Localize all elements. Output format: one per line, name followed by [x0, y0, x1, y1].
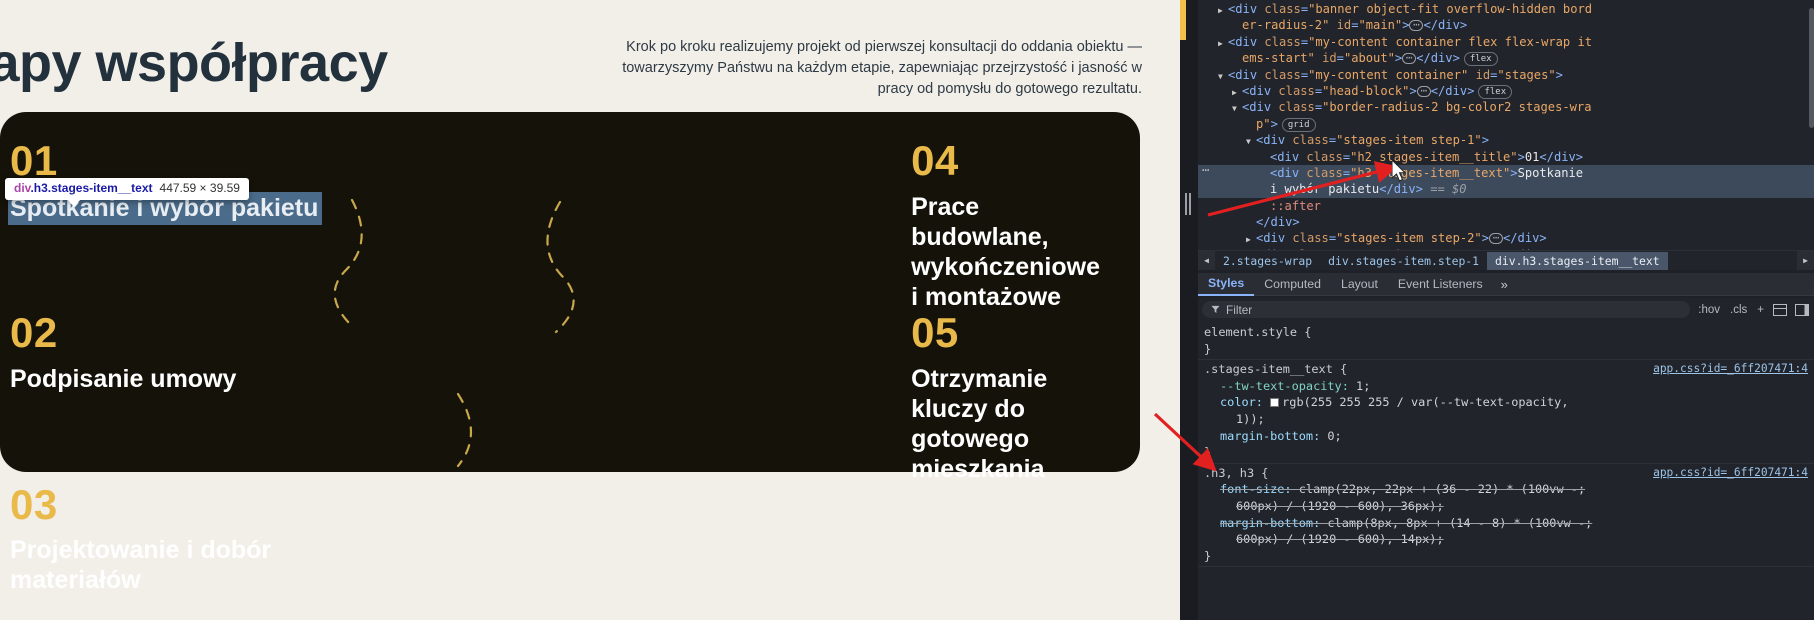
stages-item-text: Otrzymanie kluczy do gotowego mieszkania	[911, 364, 1100, 484]
dom-token-text: i wybór pakietu	[1270, 182, 1379, 196]
space	[1315, 51, 1322, 65]
element-classes-button[interactable]: .cls	[1728, 304, 1749, 316]
dom-tree-line[interactable]: ems-start" id="about">⋯</div>flex	[1198, 50, 1814, 66]
dom-tree-line[interactable]: <div class="banner object-fit overflow-h…	[1198, 1, 1814, 17]
display-badge[interactable]: flex	[1478, 85, 1512, 99]
collapsed-children-icon[interactable]: ⋯	[1489, 233, 1503, 244]
tab-styles[interactable]: Styles	[1198, 272, 1254, 296]
dom-token-punct: >	[1409, 84, 1416, 98]
dom-token-punct: </div>	[1256, 215, 1300, 229]
tooltip-class-names: .h3.stages-item__text	[30, 181, 152, 195]
stages-item-01[interactable]: 01 Spotkanie i wybór pakietu	[10, 140, 355, 312]
dom-token-val: "stages-item step-1"	[1336, 133, 1482, 147]
dom-token-attr: class	[1278, 100, 1314, 114]
breadcrumb-item[interactable]: 2.stages-wrap	[1215, 252, 1320, 270]
dom-token-punct: </div>	[1431, 84, 1475, 98]
breadcrumb[interactable]: ◀ 2.stages-wrapdiv.stages-item.step-1div…	[1198, 250, 1814, 270]
dom-token-val: "main"	[1359, 18, 1403, 32]
dom-tree-scrollbar[interactable]	[1809, 0, 1814, 250]
stages-item-04[interactable]: 04 Prace budowlane, wykończeniowe i mont…	[355, 140, 1100, 312]
css-source-link[interactable]: app.css?id=_6ff207471:4	[1653, 465, 1808, 482]
dom-token-punct: >	[1402, 18, 1409, 32]
dom-token-val: "stages"	[1497, 68, 1555, 82]
dom-token-attr: class	[1264, 2, 1300, 16]
page-title: tapy współpracy	[0, 32, 388, 94]
css-source-link[interactable]: app.css?id=_6ff207471:4	[1653, 361, 1808, 378]
mouse-cursor	[1392, 160, 1410, 186]
dom-token-punct: =	[1343, 150, 1350, 164]
dom-token-val: "h3 stages-item__text"	[1350, 166, 1510, 180]
dom-token-pseudo: ::after	[1270, 199, 1321, 213]
css-rule[interactable]: element.style {}	[1198, 323, 1814, 360]
dom-tree[interactable]: <div class="banner object-fit overflow-h…	[1198, 0, 1814, 250]
dom-token-punct: </div>	[1423, 18, 1467, 32]
dom-tree-line[interactable]: er-radius-2" id="main">⋯</div>	[1198, 17, 1814, 33]
dom-token-punct: >	[1556, 68, 1563, 82]
element-inspect-tooltip: div.h3.stages-item__text447.59 × 39.59	[5, 178, 249, 200]
dom-tree-line[interactable]: p">grid	[1198, 116, 1814, 132]
dom-token-tag: div	[1235, 2, 1257, 16]
dom-token-tag: div	[1249, 100, 1271, 114]
dom-token-punct: </div>	[1416, 51, 1460, 65]
stages-wrap: 01 Spotkanie i wybór pakietu 04 Prace bu…	[0, 112, 1140, 472]
stages-item-title: 02	[10, 312, 355, 355]
dom-token-punct: =	[1301, 68, 1308, 82]
computed-styles-sidebar-icon[interactable]	[1772, 303, 1788, 317]
dom-token-val: ems-start"	[1242, 51, 1315, 65]
dom-token-punct: >	[1482, 231, 1489, 245]
dom-token-text: Spotkanie	[1518, 166, 1584, 180]
stages-item-text: Prace budowlane, wykończeniowe i montażo…	[911, 192, 1100, 312]
breadcrumb-scroll-right-icon[interactable]: ▶	[1797, 251, 1814, 270]
webpage-viewport: tapy współpracy Krok po kroku realizujem…	[0, 0, 1180, 620]
page-header: tapy współpracy Krok po kroku realizujem…	[0, 0, 1180, 112]
css-declaration[interactable]: --tw-text-opacity: 1;	[1198, 378, 1814, 395]
dom-token-attr: id	[1337, 18, 1352, 32]
dom-token-val: "my-content container"	[1308, 68, 1468, 82]
collapsed-children-icon[interactable]: ⋯	[1417, 86, 1431, 97]
css-declaration[interactable]: 600px) / (1920 - 600), 36px);	[1198, 498, 1814, 515]
css-declaration[interactable]: font-size: clamp(22px, 22px + (36 - 22) …	[1198, 481, 1814, 498]
breadcrumb-scroll-left-icon[interactable]: ◀	[1198, 251, 1215, 270]
css-rule-close: }	[1198, 444, 1814, 461]
css-rule[interactable]: app.css?id=_6ff207471:4.stages-item__tex…	[1198, 360, 1814, 464]
dom-token-punct: =	[1351, 18, 1358, 32]
css-rule-close: }	[1198, 341, 1814, 358]
dom-token-punct: =	[1315, 100, 1322, 114]
dom-token-tag: div	[1263, 231, 1285, 245]
dom-line-more-icon[interactable]: ⋯	[1202, 165, 1209, 175]
css-declaration[interactable]: 1));	[1198, 411, 1814, 428]
breadcrumb-item[interactable]: div.h3.stages-item__text	[1487, 252, 1668, 270]
tab-event-listeners[interactable]: Event Listeners	[1388, 273, 1493, 295]
dom-token-attr: class	[1306, 166, 1342, 180]
dom-token-punct: >	[1510, 166, 1517, 180]
dom-tree-line[interactable]: <div class="stages-item step-2">⋯</div>	[1198, 230, 1814, 246]
color-swatch[interactable]	[1270, 398, 1279, 407]
css-rule-close: }	[1198, 548, 1814, 565]
stages-item-title: 04	[911, 140, 1100, 183]
space	[1329, 18, 1336, 32]
stages-item-text: Projektowanie i dobór materiałów	[10, 535, 355, 595]
dom-token-punct: >	[1395, 51, 1402, 65]
stages-item-text: Podpisanie umowy	[10, 364, 355, 394]
css-declaration[interactable]: 600px) / (1920 - 600), 14px);	[1198, 531, 1814, 548]
dom-token-attr: id	[1322, 51, 1337, 65]
page-lead-paragraph: Krok po kroku realizujemy projekt od pie…	[622, 37, 1142, 100]
dom-token-val: "stages-item step-2"	[1336, 231, 1482, 245]
tooltip-dimensions: 447.59 × 39.59	[160, 181, 240, 195]
dom-token-punct: =	[1301, 35, 1308, 49]
dom-tree-line[interactable]: <div class="border-radius-2 bg-color2 st…	[1198, 99, 1814, 115]
stages-item-title: 03	[10, 484, 355, 527]
devtools-left-gutter	[1180, 0, 1198, 620]
dom-token-attr: class	[1278, 84, 1314, 98]
dom-tree-line[interactable]: <div class="my-content container" id="st…	[1198, 67, 1814, 83]
stages-item-02[interactable]: 02 Podpisanie umowy	[10, 312, 355, 484]
dom-token-punct: =	[1337, 51, 1344, 65]
stages-grid: 01 Spotkanie i wybór pakietu 04 Prace bu…	[0, 112, 1140, 472]
dom-tree-line[interactable]: ⋯<div class="h3 stages-item__text">Spotk…	[1198, 165, 1814, 181]
dom-token-tag: div	[1277, 166, 1299, 180]
dom-tree-line[interactable]: <div class="stages-item step-1">	[1198, 132, 1814, 148]
more-tabs-icon[interactable]: »	[1493, 277, 1516, 292]
styles-filter-placeholder: Filter	[1226, 303, 1252, 317]
devtools-split-drag-handle[interactable]	[1183, 193, 1195, 215]
styles-rules-list[interactable]: element.style {}app.css?id=_6ff207471:4.…	[1198, 321, 1814, 620]
styles-filter-row[interactable]: Filter :hov .cls +	[1198, 298, 1814, 321]
dom-token-punct: =	[1329, 231, 1336, 245]
stages-item-title: 05	[911, 312, 1100, 355]
dom-tree-line[interactable]: i wybór pakietu</div> == $0	[1198, 181, 1814, 197]
dom-token-val: "head-block"	[1322, 84, 1409, 98]
collapsed-children-icon[interactable]: ⋯	[1402, 53, 1416, 64]
dom-token-attr: class	[1292, 133, 1328, 147]
dom-token-val: "my-content container flex flex-wrap it	[1308, 35, 1592, 49]
dom-token-punct: =	[1315, 84, 1322, 98]
dom-token-punct: </div>	[1503, 231, 1547, 245]
toggle-element-state-button[interactable]: :hov	[1696, 304, 1722, 316]
dom-tree-line[interactable]: ::after	[1198, 198, 1814, 214]
dom-token-attr: class	[1264, 35, 1300, 49]
dom-token-val: er-radius-2"	[1242, 18, 1329, 32]
dom-token-val: "h2 stages-item__title"	[1350, 150, 1517, 164]
tab-layout[interactable]: Layout	[1331, 273, 1388, 295]
display-badge[interactable]: flex	[1464, 52, 1498, 66]
dom-tree-line[interactable]: <div class="h2 stages-item__title">01</d…	[1198, 149, 1814, 165]
funnel-icon	[1211, 305, 1220, 314]
dom-token-punct: >	[1518, 150, 1525, 164]
dom-token-attr: class	[1264, 68, 1300, 82]
css-declaration[interactable]: margin-bottom: 0;	[1198, 428, 1814, 445]
dom-token-val: "about"	[1344, 51, 1395, 65]
dom-token-attr: class	[1306, 150, 1342, 164]
dom-token-val: "banner object-fit overflow-hidden bord	[1308, 2, 1592, 16]
styles-filter-input[interactable]: Filter	[1202, 301, 1690, 318]
styles-pane-tabs[interactable]: StylesComputedLayoutEvent Listeners»	[1198, 273, 1814, 296]
tooltip-tag-name: div	[14, 181, 30, 195]
devtools-accent-bar	[1180, 0, 1186, 40]
css-selector[interactable]: element.style {	[1198, 324, 1814, 341]
dom-token-punct: =	[1343, 166, 1350, 180]
stages-item-03[interactable]: 03 Projektowanie i dobór materiałów	[10, 484, 355, 596]
css-rule[interactable]: app.css?id=_6ff207471:4.h3, h3 {font-siz…	[1198, 464, 1814, 568]
stages-item-05[interactable]: 05 Otrzymanie kluczy do gotowego mieszka…	[355, 312, 1100, 484]
devtools-panel: <div class="banner object-fit overflow-h…	[1180, 0, 1814, 620]
dom-token-punct: =	[1329, 133, 1336, 147]
stages-item-empty	[355, 484, 1100, 596]
dom-token-val: p"	[1256, 117, 1271, 131]
toggle-sidebar-icon[interactable]	[1794, 303, 1810, 317]
dom-token-punct: >	[1271, 117, 1278, 131]
stages-item-title: 01	[10, 140, 355, 183]
dom-token-tag: div	[1277, 150, 1299, 164]
dom-tree-line[interactable]: </div>	[1198, 214, 1814, 230]
dom-token-tag: div	[1235, 68, 1257, 82]
dom-token-tag: div	[1235, 35, 1257, 49]
display-badge[interactable]: grid	[1282, 118, 1316, 132]
dom-token-punct: </div>	[1539, 150, 1583, 164]
collapsed-children-icon[interactable]: ⋯	[1409, 20, 1423, 31]
dom-token-punct: >	[1482, 133, 1489, 147]
dom-token-val: "border-radius-2 bg-color2 stages-wra	[1322, 100, 1591, 114]
dom-token-attr: id	[1476, 68, 1491, 82]
tab-computed[interactable]: Computed	[1254, 273, 1331, 295]
dom-token-punct: =	[1301, 2, 1308, 16]
dom-token-dollar: == $0	[1430, 182, 1466, 196]
dom-token-tag: div	[1249, 84, 1271, 98]
dom-token-attr: class	[1292, 231, 1328, 245]
dom-token-text: 01	[1525, 150, 1540, 164]
dom-tree-line[interactable]: <div class="my-content container flex fl…	[1198, 34, 1814, 50]
breadcrumb-item[interactable]: div.stages-item.step-1	[1320, 252, 1487, 270]
dom-tree-line[interactable]: <div class="head-block">⋯</div>flex	[1198, 83, 1814, 99]
dom-token-tag: div	[1263, 133, 1285, 147]
css-declaration[interactable]: margin-bottom: clamp(8px, 8px + (14 - 8)…	[1198, 515, 1814, 532]
new-style-rule-button[interactable]: +	[1755, 304, 1766, 316]
space	[1468, 68, 1475, 82]
css-declaration[interactable]: color: rgb(255 255 255 / var(--tw-text-o…	[1198, 394, 1814, 411]
